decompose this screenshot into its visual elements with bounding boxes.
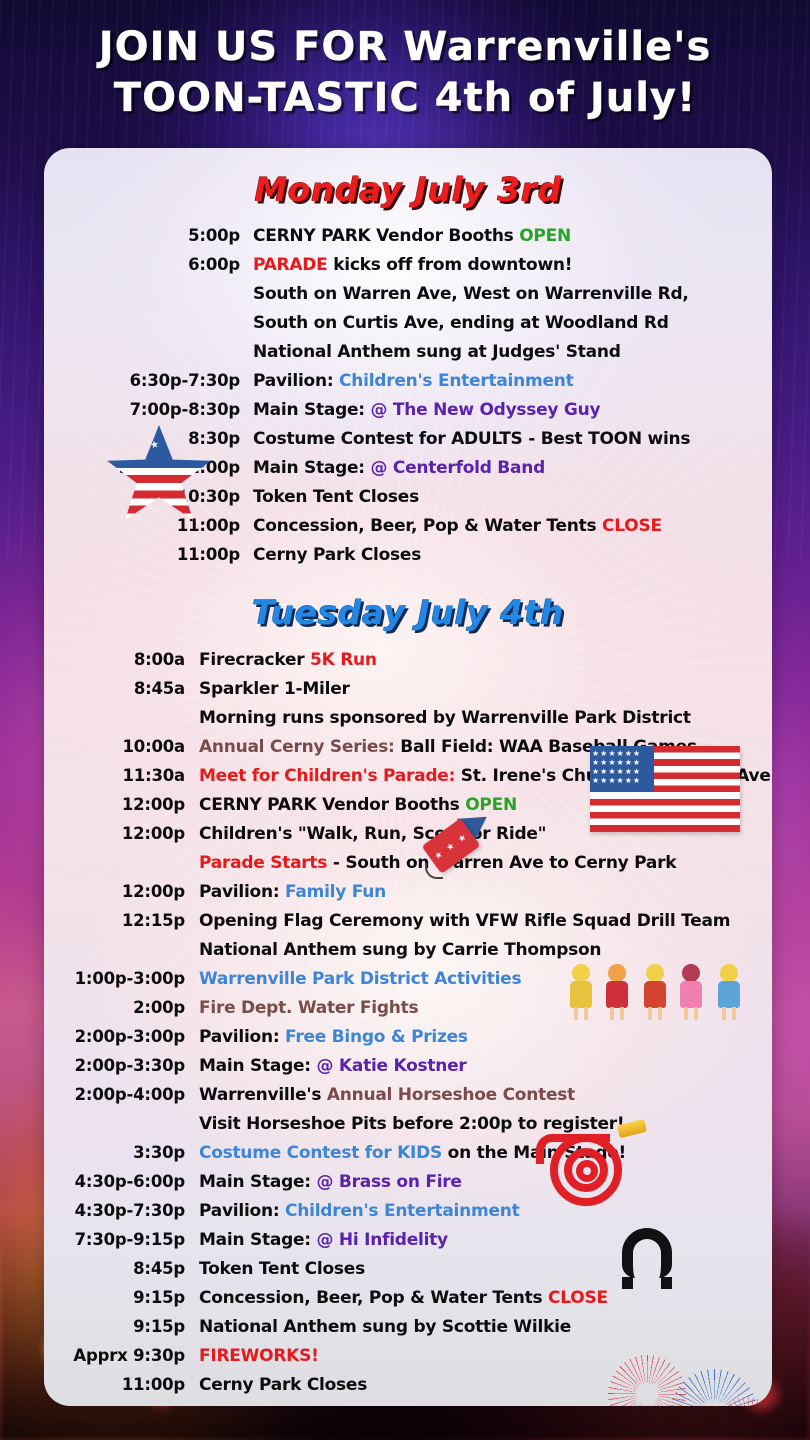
schedule-row: 10:00aAnnual Cerny Series: Ball Field: W… bbox=[44, 739, 772, 756]
schedule-row-time: 3:30p bbox=[44, 1145, 185, 1162]
schedule-row-time: 2:00p-3:30p bbox=[44, 1058, 185, 1075]
schedule-row: South on Warren Ave, West on Warrenville… bbox=[44, 286, 772, 303]
schedule-row-event: Warrenville Park District Activities bbox=[185, 971, 521, 988]
schedule-row: Parade Starts - South on Warren Ave to C… bbox=[44, 855, 772, 872]
event-text-segment: Token Tent Closes bbox=[199, 1259, 365, 1279]
page-title-line-2: TOON-TASTIC 4th of July! bbox=[0, 73, 810, 124]
event-text-segment: National Anthem sung by Carrie Thompson bbox=[199, 940, 601, 960]
event-text-segment: Concession, Beer, Pop & Water Tents bbox=[199, 1288, 548, 1308]
event-text-segment: Main Stage: bbox=[253, 400, 371, 420]
schedule-row: 1:00p-3:00pWarrenville Park District Act… bbox=[44, 971, 772, 988]
schedule-row: National Anthem sung by Carrie Thompson bbox=[44, 942, 772, 959]
schedule-row: 2:00pFire Dept. Water Fights bbox=[44, 1000, 772, 1017]
event-text-segment: CERNY PARK Vendor Booths bbox=[199, 795, 465, 815]
event-text-segment: OPEN bbox=[519, 226, 571, 246]
schedule-row-event: Concession, Beer, Pop & Water Tents CLOS… bbox=[240, 518, 662, 535]
schedule-row-time: 11:00p bbox=[44, 518, 240, 535]
event-text-segment: @ Hi Infidelity bbox=[317, 1230, 448, 1250]
event-text-segment: National Anthem sung at Judges' Stand bbox=[253, 342, 621, 362]
schedule-row-event: Meet for Children's Parade: St. Irene's … bbox=[185, 768, 771, 785]
schedule-row-event: FIREWORKS! bbox=[185, 1348, 319, 1365]
schedule-row-time: 2:00p-3:00p bbox=[44, 1029, 185, 1046]
schedule-row: 9:00p-11:00pMain Stage: @ Centerfold Ban… bbox=[44, 460, 772, 477]
event-text-segment: Costume Contest for ADULTS - Best TOON w… bbox=[253, 429, 690, 449]
schedule-row-time: 9:15p bbox=[44, 1290, 185, 1307]
event-text-segment: Children's "Walk, Run, Scoot or Ride" bbox=[199, 824, 546, 844]
schedule-row-event: Fire Dept. Water Fights bbox=[185, 1000, 418, 1017]
event-text-segment: Warrenville Park District Activities bbox=[199, 969, 521, 989]
schedule-row: 7:00p-8:30pMain Stage: @ The New Odyssey… bbox=[44, 402, 772, 419]
event-text-segment: Pavilion: bbox=[253, 371, 339, 391]
schedule-row-event: National Anthem sung by Scottie Wilkie bbox=[185, 1319, 571, 1336]
event-text-segment: Free Bingo & Prizes bbox=[285, 1027, 468, 1047]
event-text-segment: Opening Flag Ceremony with VFW Rifle Squ… bbox=[199, 911, 730, 931]
event-text-segment: on the Main Stage! bbox=[442, 1143, 626, 1163]
event-text-segment: Costume Contest for KIDS bbox=[199, 1143, 442, 1163]
schedule-row: 2:00p-3:30pMain Stage: @ Katie Kostner bbox=[44, 1058, 772, 1075]
schedule-row-event: Main Stage: @ The New Odyssey Guy bbox=[240, 402, 600, 419]
schedule-row-time: 12:00p bbox=[44, 826, 185, 843]
schedule-row: 8:45pToken Tent Closes bbox=[44, 1261, 772, 1278]
schedule-row: 12:00pChildren's "Walk, Run, Scoot or Ri… bbox=[44, 826, 772, 843]
schedule-row-event: Visit Horseshoe Pits before 2:00p to reg… bbox=[185, 1116, 624, 1133]
schedule-row-event: Sparkler 1-Miler bbox=[185, 681, 350, 698]
event-text-segment: Visit Horseshoe Pits before 2:00p to reg… bbox=[199, 1114, 624, 1134]
event-text-segment: @ Katie Kostner bbox=[317, 1056, 467, 1076]
schedule-row-time: 4:30p-6:00p bbox=[44, 1174, 185, 1191]
schedule-row-event: Main Stage: @ Katie Kostner bbox=[185, 1058, 467, 1075]
schedule-row-time: 6:00p bbox=[44, 257, 240, 274]
schedule-row: Visit Horseshoe Pits before 2:00p to reg… bbox=[44, 1116, 772, 1133]
schedule-row-event: Annual Cerny Series: Ball Field: WAA Bas… bbox=[185, 739, 697, 756]
schedule-row: 12:00pPavilion: Family Fun bbox=[44, 884, 772, 901]
event-text-segment: Pavilion: bbox=[199, 1201, 285, 1221]
event-text-segment: St. Irene's Church on Warren Ave bbox=[455, 766, 771, 786]
schedule-card: Monday July 3rd 5:00pCERNY PARK Vendor B… bbox=[44, 148, 772, 1406]
schedule-row-time: 12:00p bbox=[44, 797, 185, 814]
event-text-segment: 5K Run bbox=[310, 650, 377, 670]
event-text-segment: Main Stage: bbox=[199, 1172, 317, 1192]
schedule-row-time: 8:45a bbox=[44, 681, 185, 698]
schedule-row-time: 7:30p-9:15p bbox=[44, 1232, 185, 1249]
schedule-row-time: 10:00a bbox=[44, 739, 185, 756]
event-text-segment: Fire Dept. Water Fights bbox=[199, 998, 418, 1018]
schedule-row-time: 7:00p-8:30p bbox=[44, 402, 240, 419]
schedule-row-event: PARADE kicks off from downtown! bbox=[240, 257, 572, 274]
schedule-row-event: Token Tent Closes bbox=[240, 489, 419, 506]
tuesday-schedule: 8:00aFirecracker 5K Run8:45aSparkler 1-M… bbox=[44, 652, 772, 1394]
event-text-segment: Main Stage: bbox=[253, 458, 371, 478]
event-text-segment: CLOSE bbox=[548, 1288, 608, 1308]
event-text-segment: @ The New Odyssey Guy bbox=[371, 400, 601, 420]
schedule-row: 2:00p-3:00pPavilion: Free Bingo & Prizes bbox=[44, 1029, 772, 1046]
schedule-row-time: 8:00a bbox=[44, 652, 185, 669]
event-text-segment: Token Tent Closes bbox=[253, 487, 419, 507]
event-text-segment: OPEN bbox=[465, 795, 517, 815]
event-text-segment: Cerny Park Closes bbox=[253, 545, 421, 565]
schedule-row-event: Pavilion: Free Bingo & Prizes bbox=[185, 1029, 468, 1046]
schedule-row: 7:30p-9:15pMain Stage: @ Hi Infidelity bbox=[44, 1232, 772, 1249]
schedule-row-time: 5:00p bbox=[44, 228, 240, 245]
schedule-row-time: 9:00p-11:00p bbox=[44, 460, 240, 477]
schedule-row: 4:30p-7:30pPavilion: Children's Entertai… bbox=[44, 1203, 772, 1220]
schedule-row-event: Token Tent Closes bbox=[185, 1261, 365, 1278]
schedule-row: 8:45aSparkler 1-Miler bbox=[44, 681, 772, 698]
event-text-segment: kicks off from downtown! bbox=[328, 255, 573, 275]
event-text-segment: Pavilion: bbox=[199, 882, 285, 902]
event-text-segment: @ Centerfold Band bbox=[371, 458, 546, 478]
schedule-row: 8:00aFirecracker 5K Run bbox=[44, 652, 772, 669]
event-text-segment: Morning runs sponsored by Warrenville Pa… bbox=[199, 708, 691, 728]
schedule-row-event: National Anthem sung by Carrie Thompson bbox=[185, 942, 601, 959]
schedule-row: Morning runs sponsored by Warrenville Pa… bbox=[44, 710, 772, 727]
schedule-row-event: CERNY PARK Vendor Booths OPEN bbox=[240, 228, 571, 245]
schedule-row-event: Morning runs sponsored by Warrenville Pa… bbox=[185, 710, 691, 727]
event-text-segment: CLOSE bbox=[602, 516, 662, 536]
schedule-row-event: CERNY PARK Vendor Booths OPEN bbox=[185, 797, 517, 814]
schedule-row: 12:00pCERNY PARK Vendor Booths OPEN bbox=[44, 797, 772, 814]
schedule-row-time: 4:30p-7:30p bbox=[44, 1203, 185, 1220]
schedule-row: South on Curtis Ave, ending at Woodland … bbox=[44, 315, 772, 332]
event-text-segment: Cerny Park Closes bbox=[199, 1375, 367, 1395]
schedule-row-time: 8:45p bbox=[44, 1261, 185, 1278]
schedule-row-time: 2:00p bbox=[44, 1000, 185, 1017]
event-text-segment: National Anthem sung by Scottie Wilkie bbox=[199, 1317, 571, 1337]
schedule-row: 5:00pCERNY PARK Vendor Booths OPEN bbox=[44, 228, 772, 245]
schedule-row: 2:00p-4:00pWarrenville's Annual Horsesho… bbox=[44, 1087, 772, 1104]
schedule-row-event: Firecracker 5K Run bbox=[185, 652, 377, 669]
schedule-row-event: Concession, Beer, Pop & Water Tents CLOS… bbox=[185, 1290, 608, 1307]
event-text-segment: Ball Field: WAA Baseball Games bbox=[395, 737, 697, 757]
page-title-line-1: JOIN US FOR Warrenville's bbox=[0, 22, 810, 73]
schedule-row-event: Children's "Walk, Run, Scoot or Ride" bbox=[185, 826, 546, 843]
event-text-segment: South on Warren Ave, West on Warrenville… bbox=[253, 284, 689, 304]
event-text-segment: PARADE bbox=[253, 255, 328, 275]
schedule-row-event: Parade Starts - South on Warren Ave to C… bbox=[185, 855, 676, 872]
event-text-segment: Meet for Children's Parade: bbox=[199, 766, 455, 786]
event-text-segment: Family Fun bbox=[285, 882, 386, 902]
schedule-row-time: 1:00p-3:00p bbox=[44, 971, 185, 988]
schedule-row-time: 6:30p-7:30p bbox=[44, 373, 240, 390]
event-text-segment: Pavilion: bbox=[199, 1027, 285, 1047]
schedule-row-event: South on Curtis Ave, ending at Woodland … bbox=[240, 315, 669, 332]
event-text-segment: Children's Entertainment bbox=[285, 1201, 519, 1221]
schedule-row-event: National Anthem sung at Judges' Stand bbox=[240, 344, 621, 361]
schedule-row: 11:00pCerny Park Closes bbox=[44, 547, 772, 564]
schedule-row-time: Apprx 9:30p bbox=[44, 1348, 185, 1365]
event-text-segment: Children's Entertainment bbox=[339, 371, 573, 391]
event-text-segment: Annual Cerny Series: bbox=[199, 737, 395, 757]
schedule-row: National Anthem sung at Judges' Stand bbox=[44, 344, 772, 361]
schedule-row-event: South on Warren Ave, West on Warrenville… bbox=[240, 286, 689, 303]
tuesday-heading: Tuesday July 4th bbox=[44, 593, 772, 632]
schedule-row-event: Pavilion: Children's Entertainment bbox=[240, 373, 573, 390]
schedule-row-event: Cerny Park Closes bbox=[240, 547, 421, 564]
event-text-segment: Main Stage: bbox=[199, 1056, 317, 1076]
schedule-row-event: Main Stage: @ Brass on Fire bbox=[185, 1174, 462, 1191]
event-text-segment: @ Brass on Fire bbox=[317, 1172, 462, 1192]
event-text-segment: Annual Horseshoe Contest bbox=[327, 1085, 575, 1105]
schedule-row: 8:30pCostume Contest for ADULTS - Best T… bbox=[44, 431, 772, 448]
schedule-row-time: 12:00p bbox=[44, 884, 185, 901]
schedule-row: 10:30pToken Tent Closes bbox=[44, 489, 772, 506]
schedule-row-event: Warrenville's Annual Horseshoe Contest bbox=[185, 1087, 575, 1104]
schedule-row: 6:30p-7:30pPavilion: Children's Entertai… bbox=[44, 373, 772, 390]
schedule-row-event: Costume Contest for ADULTS - Best TOON w… bbox=[240, 431, 690, 448]
schedule-row-event: Opening Flag Ceremony with VFW Rifle Squ… bbox=[185, 913, 730, 930]
schedule-row-event: Main Stage: @ Centerfold Band bbox=[240, 460, 545, 477]
schedule-row-event: Main Stage: @ Hi Infidelity bbox=[185, 1232, 448, 1249]
monday-schedule: 5:00pCERNY PARK Vendor Booths OPEN6:00pP… bbox=[44, 228, 772, 564]
schedule-row: 12:15pOpening Flag Ceremony with VFW Rif… bbox=[44, 913, 772, 930]
schedule-row: 11:00pConcession, Beer, Pop & Water Tent… bbox=[44, 518, 772, 535]
schedule-row: 9:15pNational Anthem sung by Scottie Wil… bbox=[44, 1319, 772, 1336]
schedule-row-time: 2:00p-4:00p bbox=[44, 1087, 185, 1104]
schedule-row-time: 11:00p bbox=[44, 1377, 185, 1394]
schedule-row-event: Cerny Park Closes bbox=[185, 1377, 367, 1394]
schedule-row: 4:30p-6:00pMain Stage: @ Brass on Fire bbox=[44, 1174, 772, 1191]
schedule-row: Apprx 9:30pFIREWORKS! bbox=[44, 1348, 772, 1365]
schedule-row-time: 8:30p bbox=[44, 431, 240, 448]
schedule-row: 9:15pConcession, Beer, Pop & Water Tents… bbox=[44, 1290, 772, 1307]
event-text-segment: Warrenville's bbox=[199, 1085, 327, 1105]
schedule-row: 11:00pCerny Park Closes bbox=[44, 1377, 772, 1394]
schedule-row: 6:00pPARADE kicks off from downtown! bbox=[44, 257, 772, 274]
event-text-segment: Sparkler 1-Miler bbox=[199, 679, 350, 699]
schedule-row: 3:30pCostume Contest for KIDS on the Mai… bbox=[44, 1145, 772, 1162]
schedule-row-event: Pavilion: Family Fun bbox=[185, 884, 386, 901]
schedule-row-time: 11:00p bbox=[44, 547, 240, 564]
schedule-row-time: 10:30p bbox=[44, 489, 240, 506]
schedule-row-event: Pavilion: Children's Entertainment bbox=[185, 1203, 519, 1220]
event-text-segment: Parade Starts bbox=[199, 853, 327, 873]
event-text-segment: Main Stage: bbox=[199, 1230, 317, 1250]
schedule-row-time: 11:30a bbox=[44, 768, 185, 785]
event-text-segment: South on Curtis Ave, ending at Woodland … bbox=[253, 313, 669, 333]
schedule-row-event: Costume Contest for KIDS on the Main Sta… bbox=[185, 1145, 626, 1162]
schedule-row-time: 12:15p bbox=[44, 913, 185, 930]
schedule-row-time: 9:15p bbox=[44, 1319, 185, 1336]
schedule-row: 11:30aMeet for Children's Parade: St. Ir… bbox=[44, 768, 772, 785]
poster-header: JOIN US FOR Warrenville's TOON-TASTIC 4t… bbox=[0, 22, 810, 124]
event-text-segment: - South on Warren Ave to Cerny Park bbox=[327, 853, 676, 873]
event-text-segment: Concession, Beer, Pop & Water Tents bbox=[253, 516, 602, 536]
event-text-segment: Firecracker bbox=[199, 650, 310, 670]
monday-heading: Monday July 3rd bbox=[44, 170, 772, 209]
event-text-segment: FIREWORKS! bbox=[199, 1346, 319, 1366]
event-text-segment: CERNY PARK Vendor Booths bbox=[253, 226, 519, 246]
